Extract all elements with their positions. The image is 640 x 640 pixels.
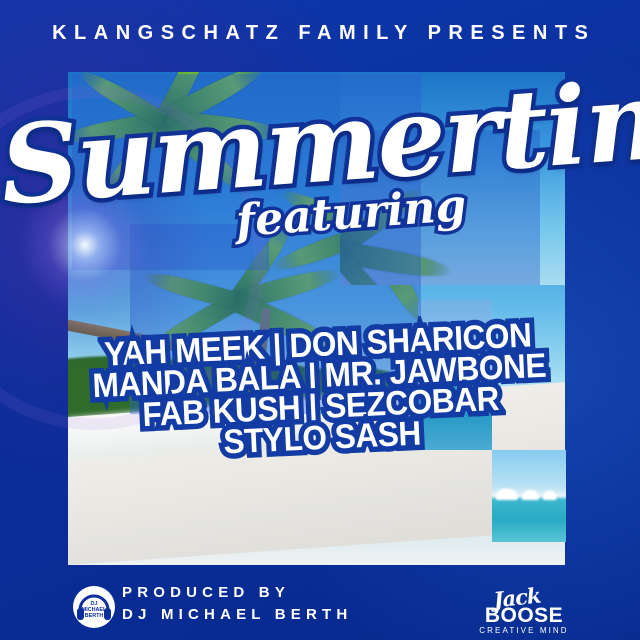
- produced-by-label: PRODUCED BY: [122, 582, 352, 604]
- jack-boose-tagline: CREATIVE MIND: [478, 625, 570, 636]
- presents-header: KLANGSCHATZ FAMILY PRESENTS: [0, 22, 640, 45]
- jack-boose-logo: Jack BOOSE CREATIVE MIND: [478, 590, 570, 630]
- dj-michael-berth-logo: DJ MICHAEL BERTH: [72, 585, 116, 629]
- album-cover: KLANGSCHATZ FAMILY PRESENTS Summertime f…: [0, 0, 640, 640]
- producer-name: DJ MICHAEL BERTH: [122, 604, 352, 626]
- tint-rect-5: [418, 300, 492, 450]
- svg-text:BERTH: BERTH: [85, 613, 104, 619]
- small-ocean-photo-panel: [492, 450, 566, 542]
- production-credit: PRODUCED BY DJ MICHAEL BERTH: [122, 582, 352, 626]
- clouds: [492, 485, 566, 500]
